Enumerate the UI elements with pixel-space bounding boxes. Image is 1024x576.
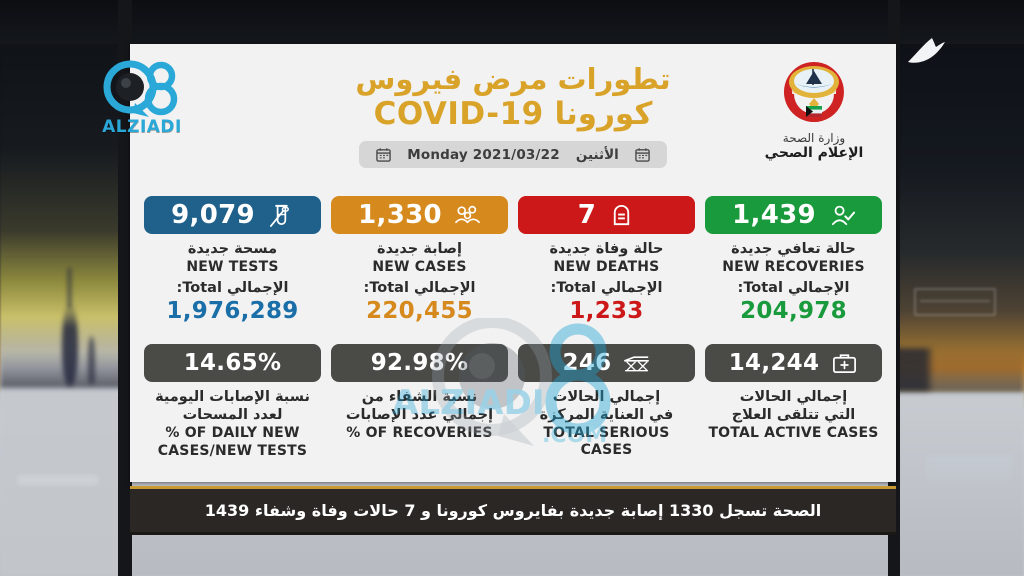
stat-total-label: الإجمالي Total: — [518, 280, 695, 296]
stats-row-secondary: 14.65% نسبة الإصابات اليومية لعدد المسحا… — [144, 344, 882, 460]
background-skyline-right — [890, 348, 1024, 392]
covid-stats-panel: ALZIADI تطورات مرض فيروس كورونا COVID-19… — [130, 44, 896, 482]
stat-label-ar-2: إجمالي عدد الإصابات — [331, 406, 508, 424]
stat-value: 14.65% — [184, 350, 282, 376]
stat-chip: 14.65% — [144, 344, 321, 382]
stat-total-value: 1,233 — [518, 298, 695, 324]
stat-value: 7 — [578, 200, 596, 230]
stat-label-ar: مسحة جديدة — [144, 240, 321, 258]
stat-total-value: 1,976,289 — [144, 298, 321, 324]
stat-card-recovery-rate: 92.98% نسبة الشفاء من إجمالي عدد الإصابا… — [331, 344, 508, 460]
stat-card-new-cases: 1,330 إصابة جديدة NEW CASES الإجمالي Tot… — [331, 196, 508, 324]
kuwait-moh-emblem-icon — [776, 54, 852, 130]
news-ticker-text: الصحة تسجل 1330 إصابة جديدة بفايروس كورو… — [205, 501, 822, 520]
stat-chip: 1,439 — [705, 196, 882, 234]
stat-card-daily-positivity: 14.65% نسبة الإصابات اليومية لعدد المسحا… — [144, 344, 321, 460]
stat-label-en-1: % OF RECOVERIES — [331, 425, 508, 442]
date-arabic: الأثنين — [576, 147, 619, 163]
liberation-tower — [62, 302, 78, 386]
stat-card-serious-cases: 246 إجمالي الحالات في العناية المركزة TO… — [518, 344, 695, 460]
stat-label-en-2: CASES/NEW TESTS — [144, 443, 321, 460]
ministry-line-2: الإعلام الصحي — [765, 145, 864, 161]
ministry-block: وزارة الصحة الإعلام الصحي — [744, 54, 884, 161]
medical-bag-icon — [831, 350, 858, 377]
stat-chip: 246 — [518, 344, 695, 382]
stat-card-new-deaths: 7 حالة وفاة جديدة NEW DEATHS الإجمالي To… — [518, 196, 695, 324]
news-ticker: الصحة تسجل 1330 إصابة جديدة بفايروس كورو… — [130, 486, 896, 532]
person-check-icon — [828, 202, 855, 229]
stat-total-label: الإجمالي Total: — [705, 280, 882, 296]
stat-label-ar-2: التي تتلقى العلاج — [705, 406, 882, 424]
tombstone-icon — [608, 202, 635, 229]
panel-header: ALZIADI تطورات مرض فيروس كورونا COVID-19… — [130, 44, 896, 194]
background-billboard — [914, 288, 996, 316]
stat-card-new-tests: 9,079 مسحة جديدة NEW TESTS الإجمالي Tota… — [144, 196, 321, 324]
stat-label-en-1: TOTAL SERIOUS CASES — [518, 425, 695, 459]
stats-grid: 9,079 مسحة جديدة NEW TESTS الإجمالي Tota… — [130, 196, 896, 460]
stat-label-ar-1: إجمالي الحالات — [518, 388, 695, 406]
broadcast-screen: ALZIADI تطورات مرض فيروس كورونا COVID-19… — [0, 0, 1024, 576]
stat-label-en: NEW TESTS — [144, 259, 321, 276]
stat-label-ar-1: نسبة الإصابات اليومية — [144, 388, 321, 406]
people-group-icon — [454, 202, 481, 229]
stat-label-ar-2: في العناية المركزة — [518, 406, 695, 424]
stat-chip: 1,330 — [331, 196, 508, 234]
ministry-line-1: وزارة الصحة — [783, 131, 845, 145]
background-text-right — [926, 455, 1012, 481]
background-top-bar — [0, 0, 1024, 44]
test-tube-swab-icon — [267, 202, 294, 229]
bird-icon — [904, 32, 952, 70]
stat-total-value: 204,978 — [705, 298, 882, 324]
calendar-icon — [376, 147, 391, 162]
stat-label-en-1: TOTAL ACTIVE CASES — [705, 425, 882, 442]
stat-chip: 14,244 — [705, 344, 882, 382]
background-text-left — [18, 475, 98, 485]
stat-label-en: NEW DEATHS — [518, 259, 695, 276]
stat-chip: 7 — [518, 196, 695, 234]
stat-label-ar: حالة وفاة جديدة — [518, 240, 695, 258]
stat-label-ar-2: لعدد المسحات — [144, 406, 321, 424]
stat-total-label: الإجمالي Total: — [144, 280, 321, 296]
date-english: Monday 2021/03/22 — [407, 147, 560, 163]
stat-label-ar: إصابة جديدة — [331, 240, 508, 258]
stat-value: 14,244 — [729, 350, 820, 376]
stat-chip: 92.98% — [331, 344, 508, 382]
background-tower-2 — [88, 336, 95, 384]
stat-label-en: NEW RECOVERIES — [705, 259, 882, 276]
stats-row-primary: 9,079 مسحة جديدة NEW TESTS الإجمالي Tota… — [144, 196, 882, 324]
stat-label-en: NEW CASES — [331, 259, 508, 276]
stat-card-active-cases: 14,244 إجمالي الحالات التي تتلقى العلاج … — [705, 344, 882, 460]
date-bar: Monday 2021/03/22 الأثنين — [359, 141, 667, 168]
stat-value: 92.98% — [371, 350, 469, 376]
stat-total-label: الإجمالي Total: — [331, 280, 508, 296]
stat-value: 9,079 — [171, 200, 255, 230]
stat-label-ar-1: نسبة الشفاء من — [331, 388, 508, 406]
stat-label-ar: حالة تعافي جديدة — [705, 240, 882, 258]
stat-value: 246 — [563, 350, 612, 376]
stat-value: 1,439 — [732, 200, 816, 230]
stat-label-ar-1: إجمالي الحالات — [705, 388, 882, 406]
ticker-bottom-line — [130, 532, 896, 535]
stat-label-en-1: % OF DAILY NEW — [144, 425, 321, 442]
calendar-icon — [635, 147, 650, 162]
stat-total-value: 220,455 — [331, 298, 508, 324]
stat-value: 1,330 — [358, 200, 442, 230]
stat-chip: 9,079 — [144, 196, 321, 234]
stat-card-new-recoveries: 1,439 حالة تعافي جديدة NEW RECOVERIES ال… — [705, 196, 882, 324]
hospital-bed-icon — [623, 350, 650, 377]
